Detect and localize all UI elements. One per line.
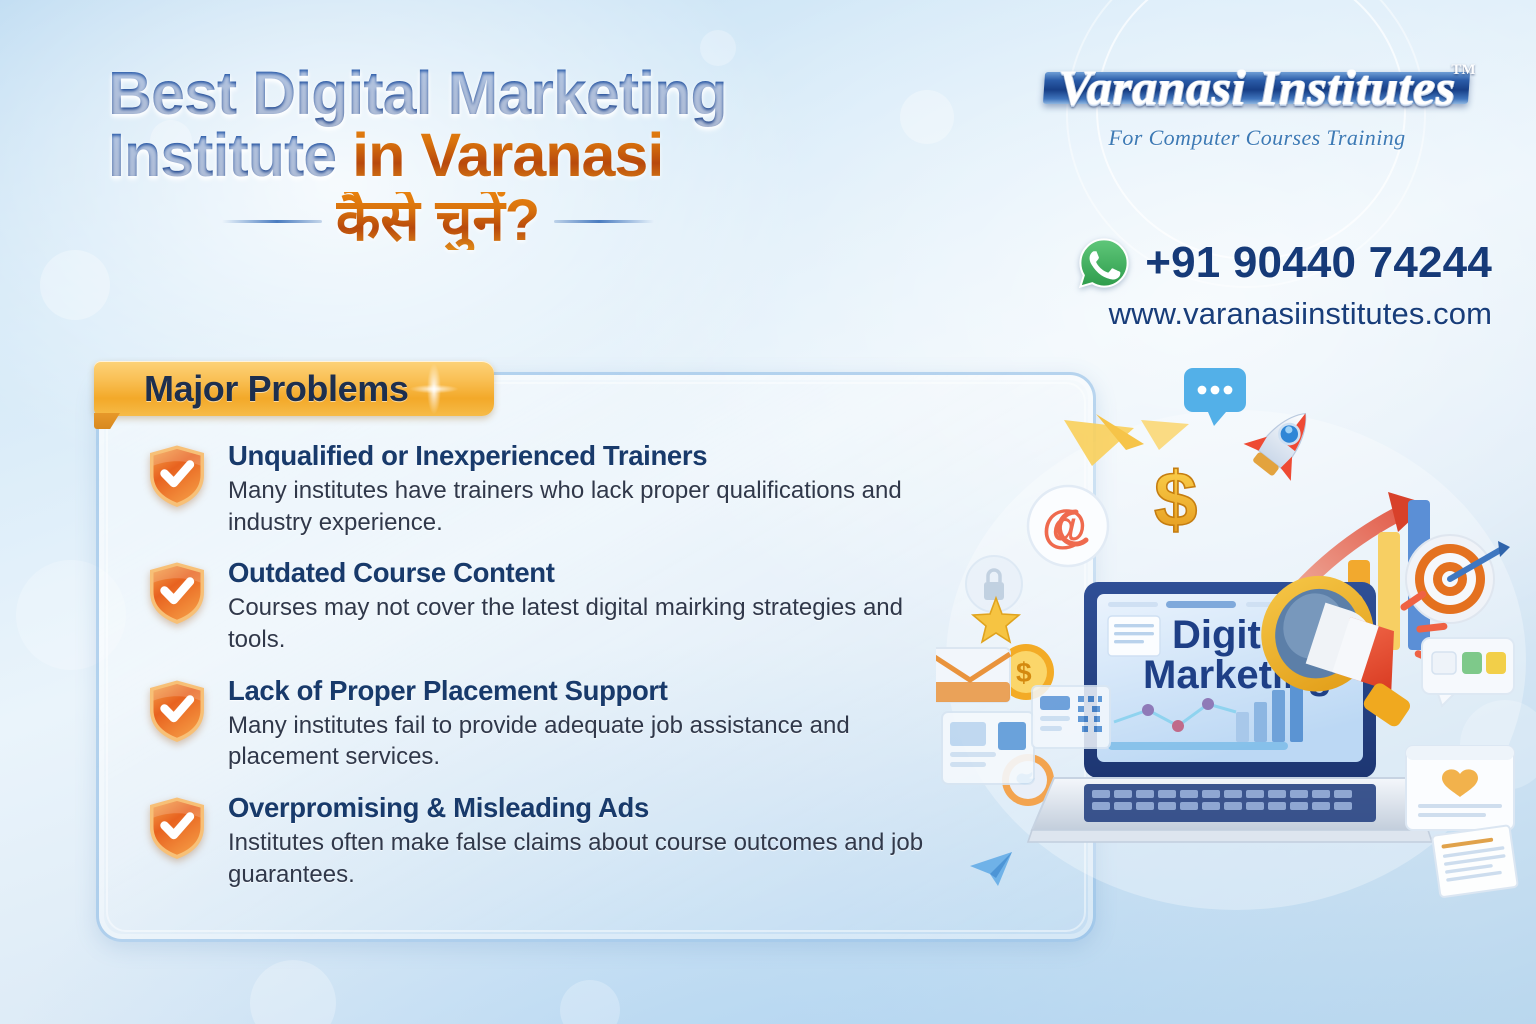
- headline-hindi-text: कैसे चुनें?: [336, 192, 540, 250]
- laptop-screen-line-2: Marketing: [1143, 653, 1332, 697]
- decorative-rule-left: [222, 220, 322, 223]
- poster-canvas: Best Digital Marketing Institute in Vara…: [0, 0, 1536, 1024]
- whatsapp-icon[interactable]: [1077, 236, 1131, 290]
- bar-chart-icon: [1254, 616, 1296, 658]
- problems-list: Unqualified or Inexperienced Trainers Ma…: [148, 440, 928, 910]
- bokeh-dot: [40, 250, 110, 320]
- bokeh-dot: [900, 90, 954, 144]
- headline-hindi-row: कैसे चुनें?: [108, 192, 768, 250]
- growth-arrow-icon: [1266, 492, 1428, 630]
- bokeh-dot: [1460, 700, 1536, 790]
- chat-card-icon: [1422, 638, 1514, 706]
- headline-institute-text: Institute: [108, 121, 336, 189]
- target-dartboard-icon: [1406, 535, 1510, 623]
- list-item: Outdated Course Content Courses may not …: [148, 557, 928, 655]
- dollar-sign-icon: $: [1154, 455, 1197, 543]
- phone-number[interactable]: +91 90440 74244: [1145, 238, 1492, 288]
- headline-location-text: in Varanasi: [352, 121, 663, 189]
- brand-logo: Varanasi Institutes TM For Computer Cour…: [1014, 58, 1500, 151]
- list-item: Overpromising & Misleading Ads Institute…: [148, 792, 928, 890]
- problem-title: Outdated Course Content: [228, 557, 928, 589]
- heart-card-icon: [1406, 746, 1514, 830]
- problem-description: Institutes often make false claims about…: [228, 827, 928, 891]
- document-icon: [1432, 825, 1518, 897]
- bar-chart-icon: [1318, 500, 1430, 650]
- ribbon-label: Major Problems: [144, 368, 408, 410]
- phone-row[interactable]: +91 90440 74244: [1022, 236, 1492, 290]
- bokeh-dot: [250, 960, 336, 1024]
- shield-check-icon: [148, 796, 206, 860]
- shield-check-icon: [148, 561, 206, 625]
- list-item: Lack of Proper Placement Support Many in…: [148, 675, 928, 773]
- problem-title: Lack of Proper Placement Support: [228, 675, 928, 707]
- problem-description: Many institutes have trainers who lack p…: [228, 475, 928, 539]
- bokeh-dot: [560, 980, 620, 1024]
- decorative-rule-right: [554, 220, 654, 223]
- headline-line-1-text: Best Digital Marketing: [108, 59, 727, 127]
- problem-title: Overpromising & Misleading Ads: [228, 792, 928, 824]
- major-problems-ribbon: Major Problems: [94, 361, 494, 416]
- list-item: Unqualified or Inexperienced Trainers Ma…: [148, 440, 928, 538]
- headline-group: Best Digital Marketing Institute in Vara…: [108, 62, 898, 250]
- problem-description: Many institutes fail to provide adequate…: [228, 710, 928, 774]
- shield-check-icon: [148, 444, 206, 508]
- trademark-icon: TM: [1451, 62, 1475, 79]
- chat-bubble-icon: [1184, 368, 1246, 426]
- shield-check-icon: [148, 679, 206, 743]
- logo-wordmark-text: Varanasi Institutes: [1050, 58, 1463, 116]
- headline-line-2: Institute in Varanasi: [108, 124, 898, 186]
- logo-wordmark-wrap: Varanasi Institutes TM: [1050, 58, 1463, 116]
- megaphone-icon: [1244, 550, 1459, 736]
- problem-description: Courses may not cover the latest digital…: [228, 592, 928, 656]
- laptop-screen-line-1: Digital: [1172, 613, 1294, 657]
- logo-tagline: For Computer Courses Training: [1014, 125, 1500, 151]
- problem-title: Unqualified or Inexperienced Trainers: [228, 440, 928, 472]
- contact-block: +91 90440 74244 www.varanasiinstitutes.c…: [1022, 236, 1492, 332]
- svg-text:$: $: [1154, 455, 1197, 543]
- headline-line-1: Best Digital Marketing: [108, 62, 898, 124]
- website-url[interactable]: www.varanasiinstitutes.com: [1022, 296, 1492, 332]
- rocket-icon: [1239, 395, 1329, 487]
